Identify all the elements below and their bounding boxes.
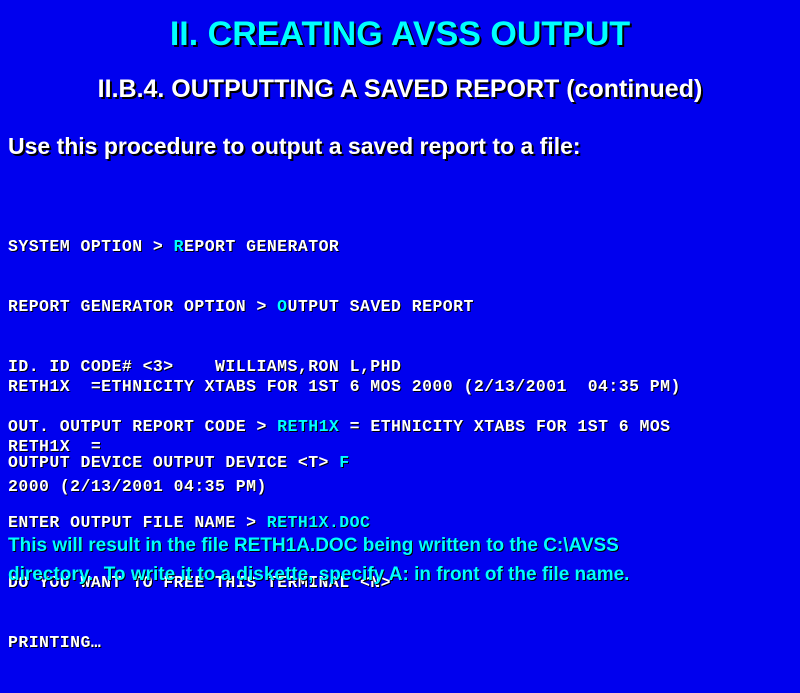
lead-instruction-text: Use this procedure to output a saved rep… [8,131,581,161]
transcript-line: ENTER OUTPUT FILE NAME > RETH1X.DOC [8,513,391,533]
transcript-line: RETH1X =ETHNICITY XTABS FOR 1ST 6 MOS 20… [8,377,681,397]
line-text-pre: RETH1X =ETHNICITY XTABS FOR 1ST 6 MOS 20… [8,377,681,396]
transcript-line: OUTPUT DEVICE OUTPUT DEVICE <T> F [8,453,391,473]
line-text-post: EPORT GENERATOR [184,237,339,256]
line-text-pre: REPORT GENERATOR OPTION > [8,297,277,316]
line-text-pre: ENTER OUTPUT FILE NAME > [8,513,267,532]
result-note: This will result in the file RETH1A.DOC … [8,531,794,589]
transcript-line: REPORT GENERATOR OPTION > OUTPUT SAVED R… [8,297,671,317]
line-text-pre: OUTPUT DEVICE OUTPUT DEVICE <T> [8,453,339,472]
result-note-line: directory. To write it to a diskette, sp… [8,560,794,589]
page-title: II. CREATING AVSS OUTPUT [0,14,800,54]
transcript-line: PRINTING… [8,633,391,653]
line-text-highlight: R [174,237,184,256]
line-text-post: UTPUT SAVED REPORT [288,297,474,316]
page-subtitle: II.B.4. OUTPUTTING A SAVED REPORT (conti… [0,74,800,104]
slide-canvas: II. CREATING AVSS OUTPUT II.B.4. OUTPUTT… [0,0,800,600]
transcript-line: SYSTEM OPTION > REPORT GENERATOR [8,237,671,257]
line-text-highlight: F [339,453,349,472]
line-text-pre: PRINTING… [8,633,101,652]
line-text-highlight: RETH1X.DOC [267,513,371,532]
result-note-line: This will result in the file RETH1A.DOC … [8,531,794,560]
line-text-pre: SYSTEM OPTION > [8,237,174,256]
line-text-highlight: O [277,297,287,316]
